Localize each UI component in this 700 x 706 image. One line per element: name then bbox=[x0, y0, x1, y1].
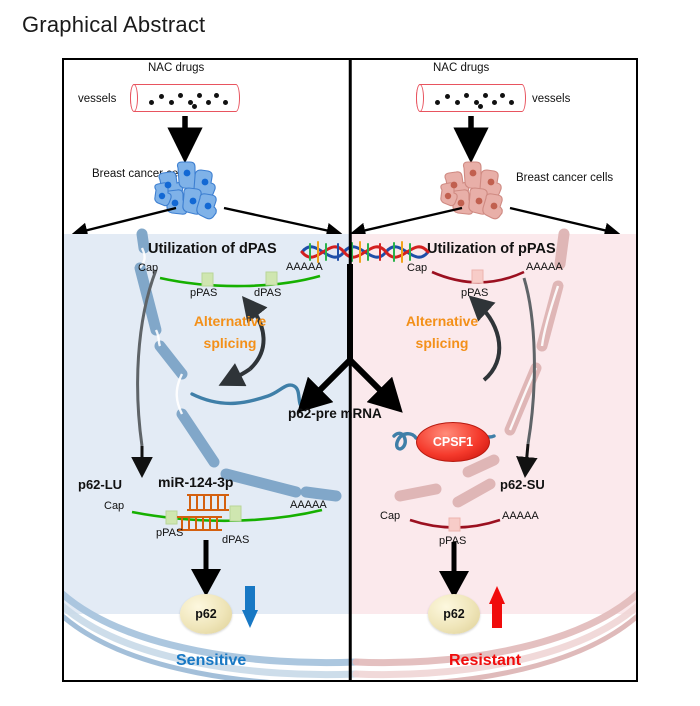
p62-pre-mrna-label: p62-pre mRNA bbox=[288, 406, 382, 421]
panel-divider bbox=[349, 60, 352, 680]
diverging-arrows-right-svg bbox=[350, 60, 636, 234]
sensitive-outcome-label: Sensitive bbox=[176, 652, 246, 670]
page-title: Graphical Abstract bbox=[22, 12, 205, 38]
resistant-outcome-label: Resistant bbox=[449, 652, 521, 670]
right-top-half: NAC drugs vessels Breast cancer cells bbox=[350, 60, 636, 234]
left-top-half: NAC drugs vessels Breast bbox=[64, 60, 350, 234]
diverging-arrows-left-svg bbox=[64, 60, 350, 234]
cpsf1-protein-badge: CPSF1 bbox=[416, 422, 490, 462]
graphical-abstract-figure: NAC drugs vessels Breast bbox=[62, 58, 638, 682]
